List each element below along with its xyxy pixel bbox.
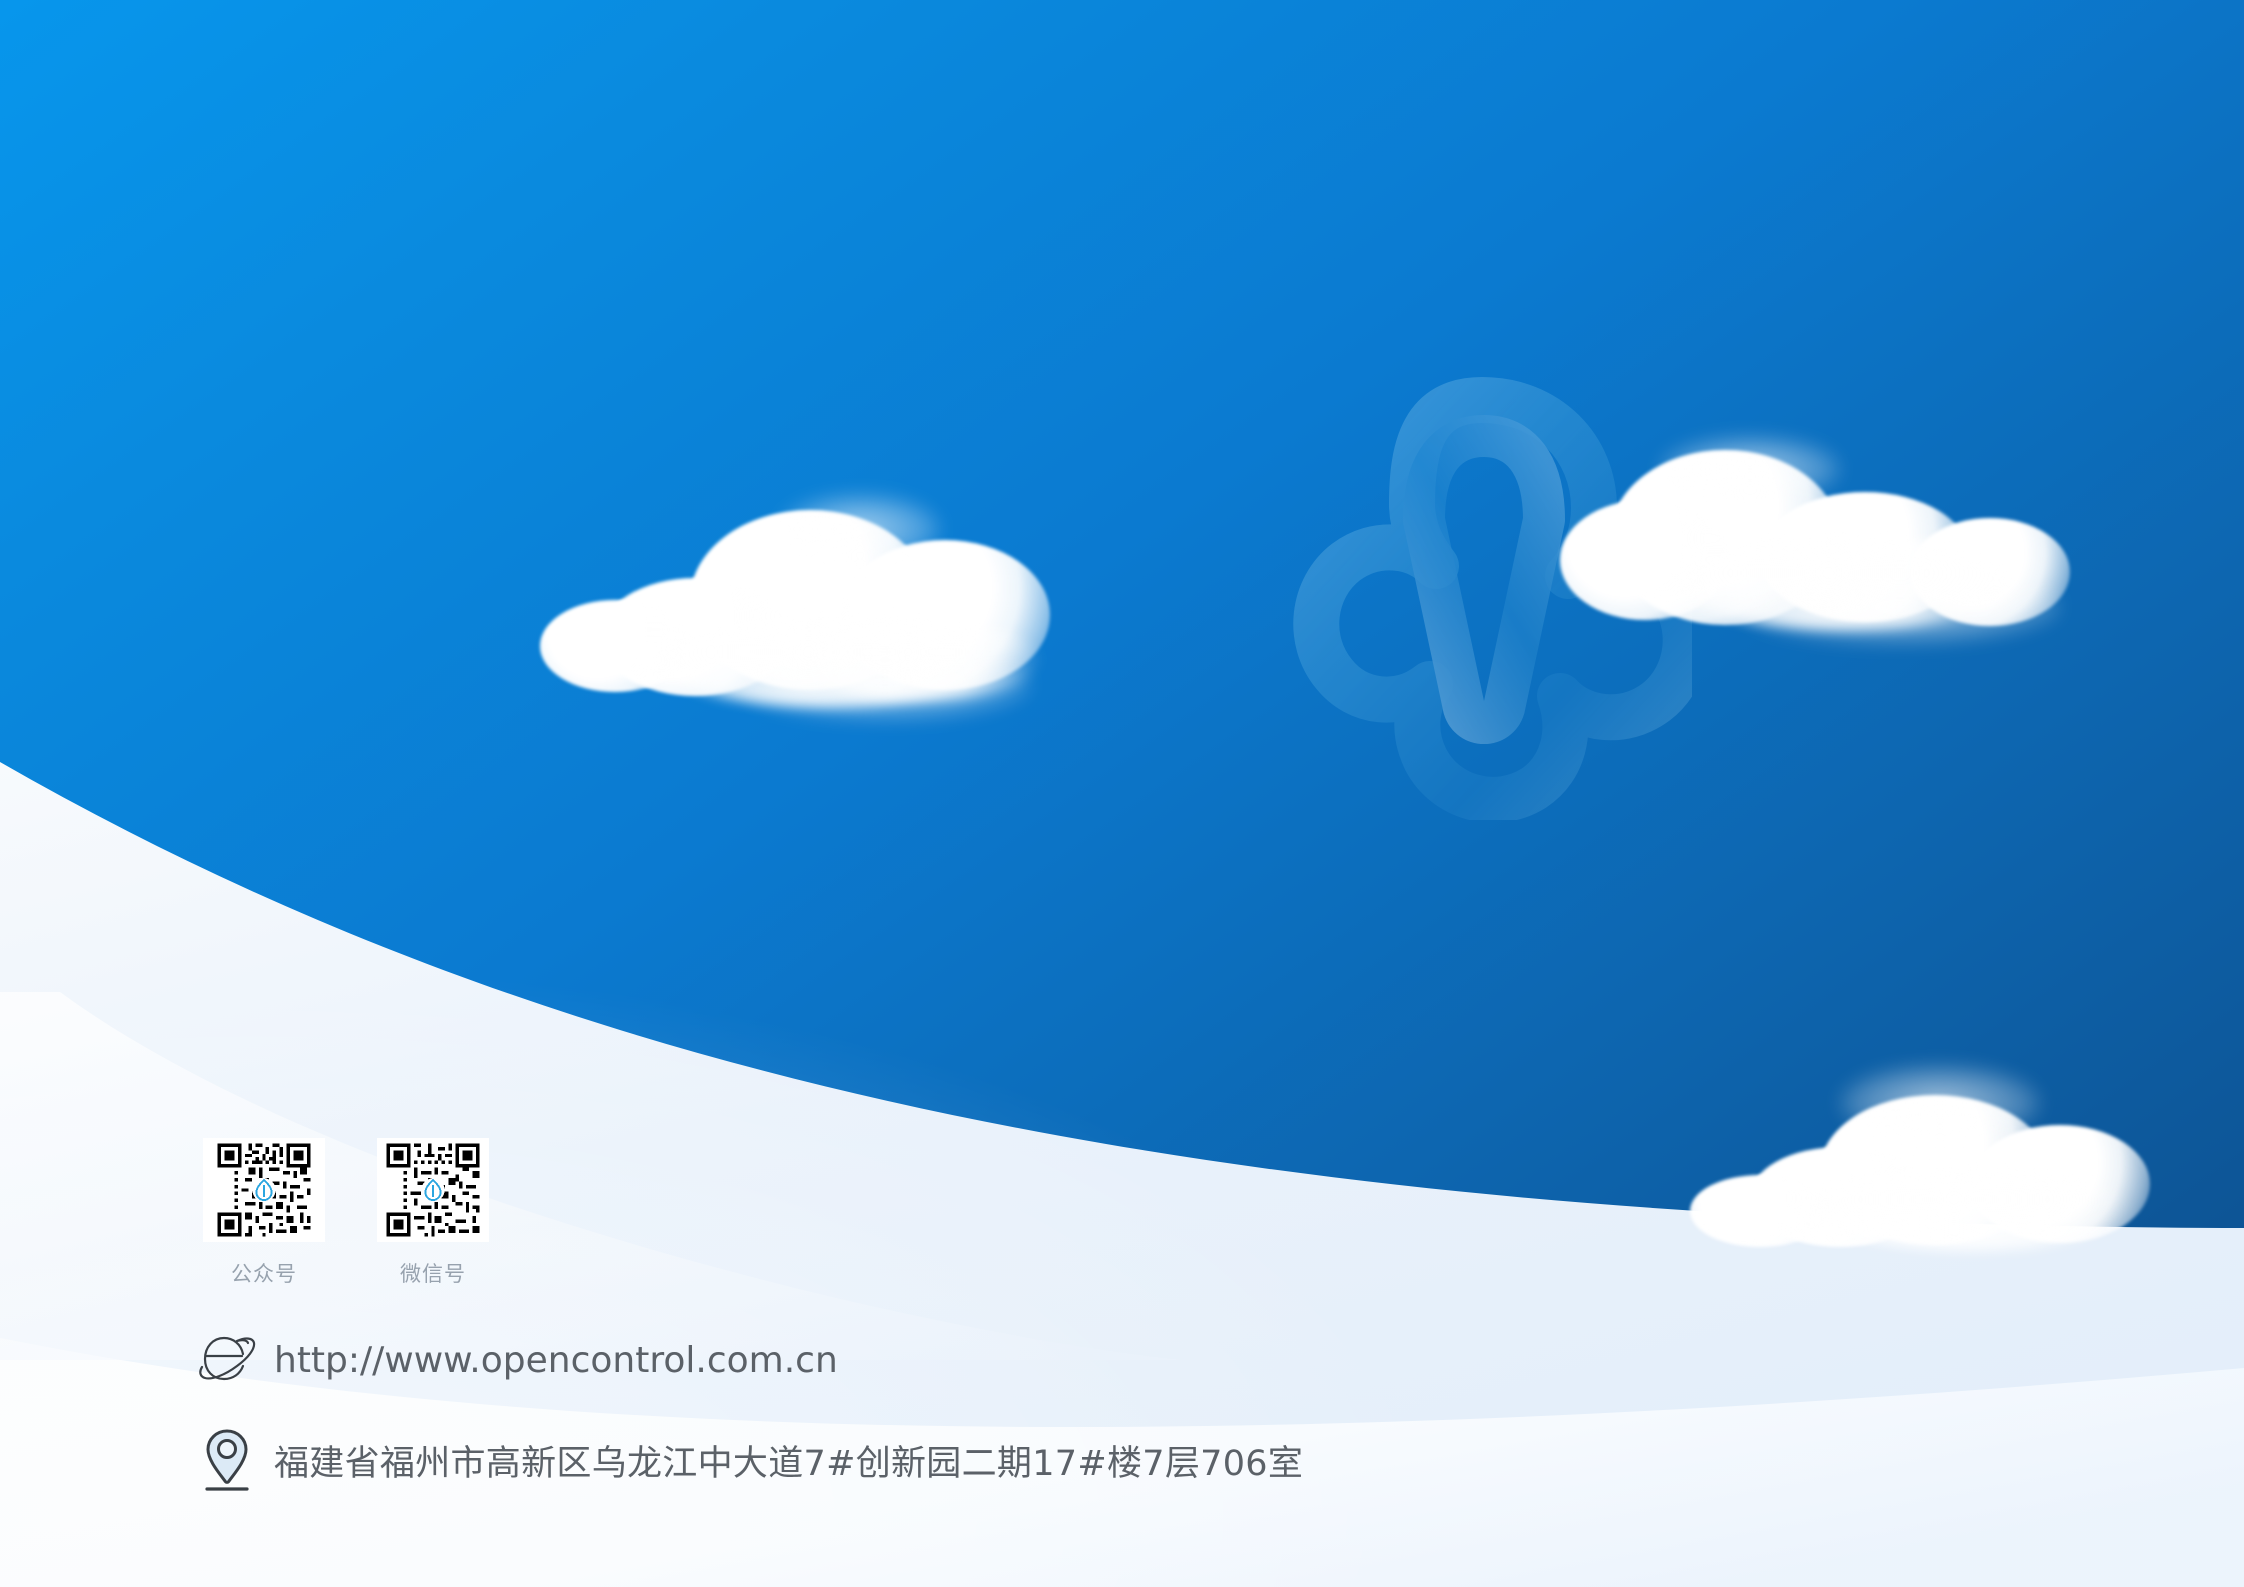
qr-item-official-account[interactable]: 公众号: [203, 1138, 325, 1288]
contact-row-address: 福建省福州市高新区乌龙江中大道7#创新园二期17#楼7层706室: [196, 1422, 1303, 1498]
internet-explorer-icon: [196, 1328, 260, 1392]
location-pin-icon: [196, 1425, 258, 1495]
back-cover-slide: 公众号: [0, 0, 2244, 1587]
location-pin-icon-wrap: [196, 1425, 274, 1495]
internet-explorer-icon-wrap: [196, 1328, 274, 1392]
clover-waterdrop-logo-watermark: [1272, 352, 1692, 820]
website-url-text[interactable]: http://www.opencontrol.com.cn: [274, 1340, 838, 1381]
qr-code-group: 公众号: [203, 1138, 489, 1288]
qr-label: 公众号: [231, 1258, 297, 1288]
qr-code-icon[interactable]: [377, 1138, 489, 1242]
contact-row-website[interactable]: http://www.opencontrol.com.cn: [196, 1322, 1303, 1398]
qr-code-icon[interactable]: [203, 1138, 325, 1242]
contact-info-rows: http://www.opencontrol.com.cn 福建省福州市高新区乌…: [196, 1322, 1303, 1498]
logo-clover-ring: [1316, 400, 1685, 800]
qr-label: 微信号: [400, 1258, 466, 1288]
address-text: 福建省福州市高新区乌龙江中大道7#创新园二期17#楼7层706室: [274, 1435, 1303, 1486]
qr-item-wechat-id[interactable]: 微信号: [377, 1138, 489, 1288]
